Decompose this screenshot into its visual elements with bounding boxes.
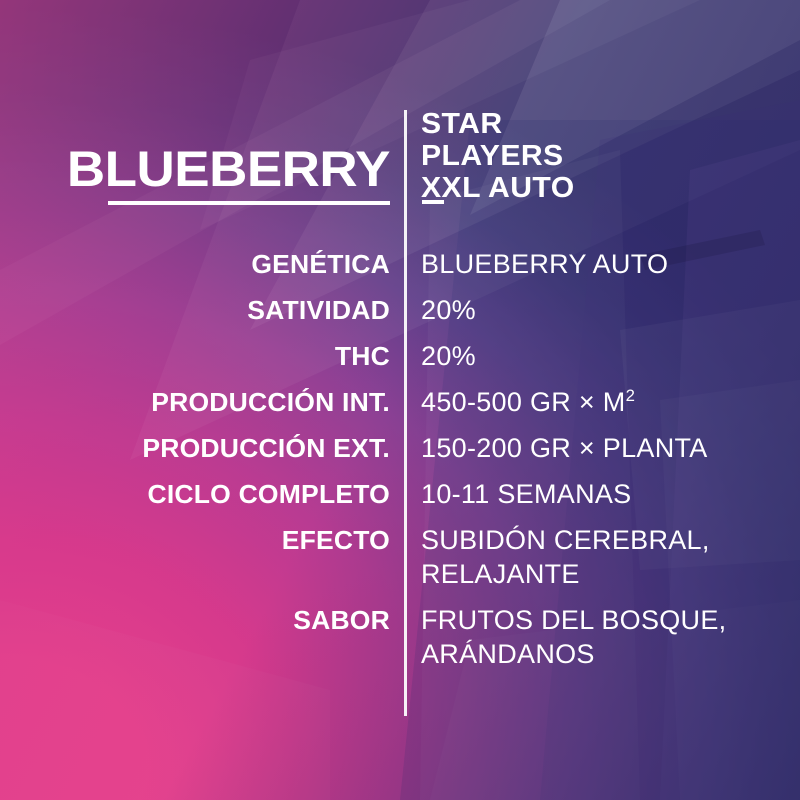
spec-value-produccion-int: 450-500 GR × M2 <box>421 385 635 419</box>
spec-value-efecto: SUBIDÓN CEREBRAL, RELAJANTE <box>421 523 710 591</box>
spec-value-produccion-ext: 150-200 GR × PLANTA <box>421 431 708 465</box>
spec-label-sabor: SABOR <box>0 603 390 637</box>
spec-label-genetica: GENÉTICA <box>0 247 390 281</box>
spec-value-line: 150-200 GR × PLANTA <box>421 431 708 465</box>
spec-value-line: 450-500 GR × M2 <box>421 385 635 419</box>
superscript-two: 2 <box>626 386 636 405</box>
table-row: SABOR FRUTOS DEL BOSQUE, ARÁNDANOS <box>0 603 800 671</box>
product-line-3: XXL AUTO <box>421 172 575 204</box>
spec-label-satividad: SATIVIDAD <box>0 293 390 327</box>
spec-label-produccion-int: PRODUCCIÓN INT. <box>0 385 390 419</box>
product-name: STAR PLAYERS XXL AUTO <box>421 108 575 204</box>
product-underline <box>422 200 444 204</box>
spec-value-satividad: 20% <box>421 293 476 327</box>
table-row: GENÉTICA BLUEBERRY AUTO <box>0 247 800 281</box>
spec-value-ciclo-completo: 10-11 SEMANAS <box>421 477 632 511</box>
spec-value-line: FRUTOS DEL BOSQUE, <box>421 603 726 637</box>
table-row: SATIVIDAD 20% <box>0 293 800 327</box>
spec-label-ciclo-completo: CICLO COMPLETO <box>0 477 390 511</box>
spec-value-line: ARÁNDANOS <box>421 637 726 671</box>
spec-label-produccion-ext: PRODUCCIÓN EXT. <box>0 431 390 465</box>
strain-info-card: BLUEBERRY STAR PLAYERS XXL AUTO GENÉTICA… <box>0 0 800 800</box>
spec-table: GENÉTICA BLUEBERRY AUTO SATIVIDAD 20% TH… <box>0 247 800 683</box>
table-row: CICLO COMPLETO 10-11 SEMANAS <box>0 477 800 511</box>
spec-value-line: BLUEBERRY AUTO <box>421 247 668 281</box>
spec-value-line: SUBIDÓN CEREBRAL, <box>421 523 710 557</box>
brand-title: BLUEBERRY <box>0 141 390 197</box>
product-line-2: PLAYERS <box>421 140 575 172</box>
spec-value-genetica: BLUEBERRY AUTO <box>421 247 668 281</box>
table-row: EFECTO SUBIDÓN CEREBRAL, RELAJANTE <box>0 523 800 591</box>
brand-underline <box>108 201 390 205</box>
spec-value-sabor: FRUTOS DEL BOSQUE, ARÁNDANOS <box>421 603 726 671</box>
spec-value-line: RELAJANTE <box>421 557 710 591</box>
product-line-1: STAR <box>421 108 575 140</box>
spec-value-line: 10-11 SEMANAS <box>421 477 632 511</box>
spec-label-efecto: EFECTO <box>0 523 390 557</box>
table-row: PRODUCCIÓN INT. 450-500 GR × M2 <box>0 385 800 419</box>
spec-value-line: 20% <box>421 339 476 373</box>
table-row: PRODUCCIÓN EXT. 150-200 GR × PLANTA <box>0 431 800 465</box>
spec-value-line: 20% <box>421 293 476 327</box>
spec-value-thc: 20% <box>421 339 476 373</box>
spec-label-thc: THC <box>0 339 390 373</box>
card-content: BLUEBERRY STAR PLAYERS XXL AUTO GENÉTICA… <box>0 0 800 800</box>
table-row: THC 20% <box>0 339 800 373</box>
